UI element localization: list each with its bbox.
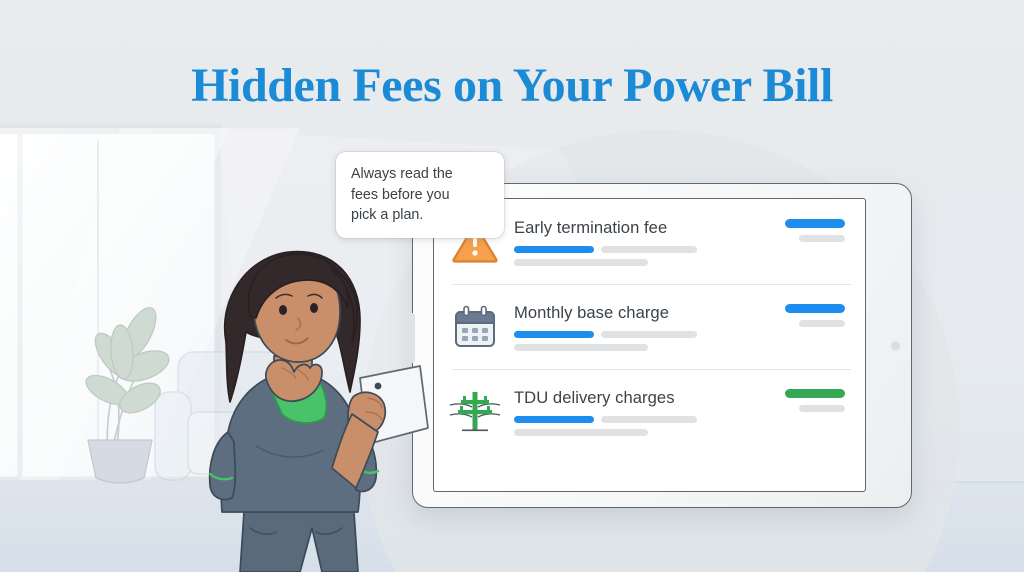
page-title: Hidden Fees on Your Power Bill [0,58,1024,113]
power-pole-icon [448,384,502,440]
speech-bubble-line-1: Always read the [351,164,490,185]
fee-bar-line [514,416,775,423]
amount-subpill [799,320,845,327]
character-illustration [182,236,438,572]
calendar-icon [448,299,502,355]
fee-bar-gray-2 [514,259,648,266]
fee-bar-line [514,246,775,253]
amount-subpill [799,235,845,242]
tablet-screen: Early termination fee [433,198,866,492]
amount-pill [785,389,845,398]
fee-row-content: Early termination fee [514,218,775,266]
speech-bubble: Always read the fees before you pick a p… [336,152,504,238]
camera-dot [891,341,900,350]
fee-bar-line [514,331,775,338]
fee-bar-gray [601,416,697,423]
fee-row-amount [785,199,849,242]
amount-pill [785,304,845,313]
fee-row-content: Monthly base charge [514,303,775,351]
speech-bubble-line-2: fees before you [351,185,490,206]
fee-bar-gray [601,246,697,253]
fee-title: Monthly base charge [514,303,775,323]
amount-pill [785,219,845,228]
fee-row-content: TDU delivery charges [514,388,775,436]
fee-row-amount [785,284,849,327]
fee-bar-blue [514,416,594,423]
fee-title: TDU delivery charges [514,388,775,408]
fee-title: Early termination fee [514,218,775,238]
fee-bar-blue [514,246,594,253]
fee-row-amount [785,369,849,412]
amount-subpill [799,405,845,412]
fee-bar-gray [601,331,697,338]
fee-row-tdu-delivery-charges[interactable]: TDU delivery charges [434,369,865,454]
fee-bar-gray-2 [514,429,648,436]
fee-bar-blue [514,331,594,338]
speech-bubble-line-3: pick a plan. [351,205,490,226]
fee-bar-gray-2 [514,344,648,351]
fee-row-monthly-base-charge[interactable]: Monthly base charge [434,284,865,369]
